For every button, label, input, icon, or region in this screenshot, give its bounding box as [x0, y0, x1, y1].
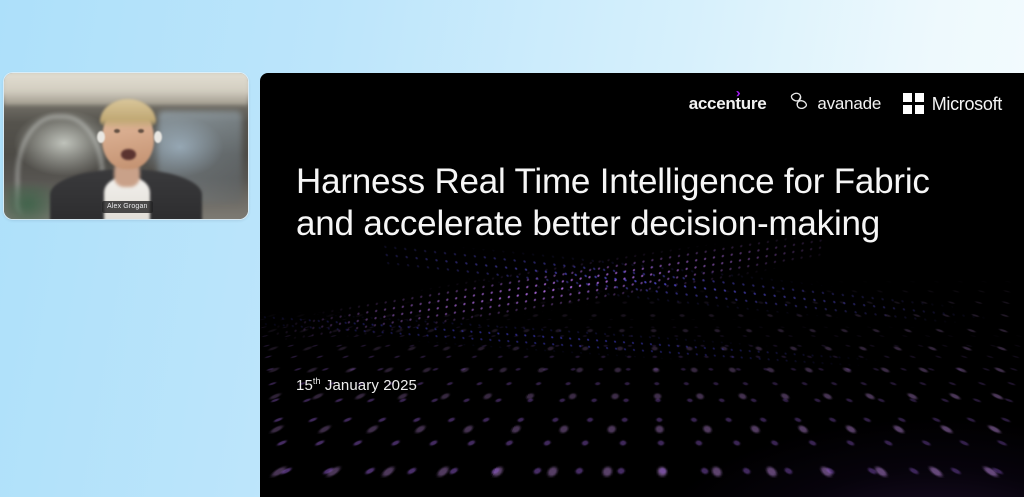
- video-person-eye-left: [114, 129, 120, 133]
- microsoft-wordmark: Microsoft: [932, 95, 1002, 113]
- microsoft-logo: Microsoft: [903, 93, 1002, 114]
- participant-video-tile[interactable]: [4, 73, 248, 219]
- slide-date: 15th January 2025: [296, 376, 417, 394]
- video-person-eye-right: [138, 129, 144, 133]
- video-person-earbud-right: [154, 131, 162, 143]
- slide-title: Harness Real Time Intelligence for Fabri…: [296, 161, 996, 245]
- accenture-arrow-icon: ›: [735, 87, 740, 97]
- slide-title-line-1: Harness Real Time Intelligence for Fabri…: [296, 161, 996, 203]
- video-person-mouth: [121, 149, 136, 160]
- slide-date-day: 15: [296, 377, 313, 394]
- avanade-wordmark: avanade: [817, 95, 881, 113]
- participant-name-label: Alex Grogan: [102, 201, 153, 213]
- partner-logo-bar: accenture › avanade: [689, 91, 1002, 116]
- slide-title-line-2: and accelerate better decision-making: [296, 203, 996, 245]
- avanade-logo: avanade: [788, 91, 881, 116]
- accenture-wordmark: accenture: [689, 95, 767, 113]
- video-person-earbud-left: [97, 131, 105, 143]
- microsoft-squares-icon: [903, 93, 924, 114]
- shared-slide[interactable]: accenture › avanade: [260, 73, 1024, 497]
- avanade-mark-icon: [788, 91, 810, 116]
- meeting-screen-share-view: Alex Grogan accenture ›: [0, 0, 1024, 497]
- slide-date-month-year: January 2025: [321, 377, 417, 394]
- accenture-logo: accenture ›: [689, 95, 767, 113]
- slide-date-ordinal: th: [313, 376, 321, 386]
